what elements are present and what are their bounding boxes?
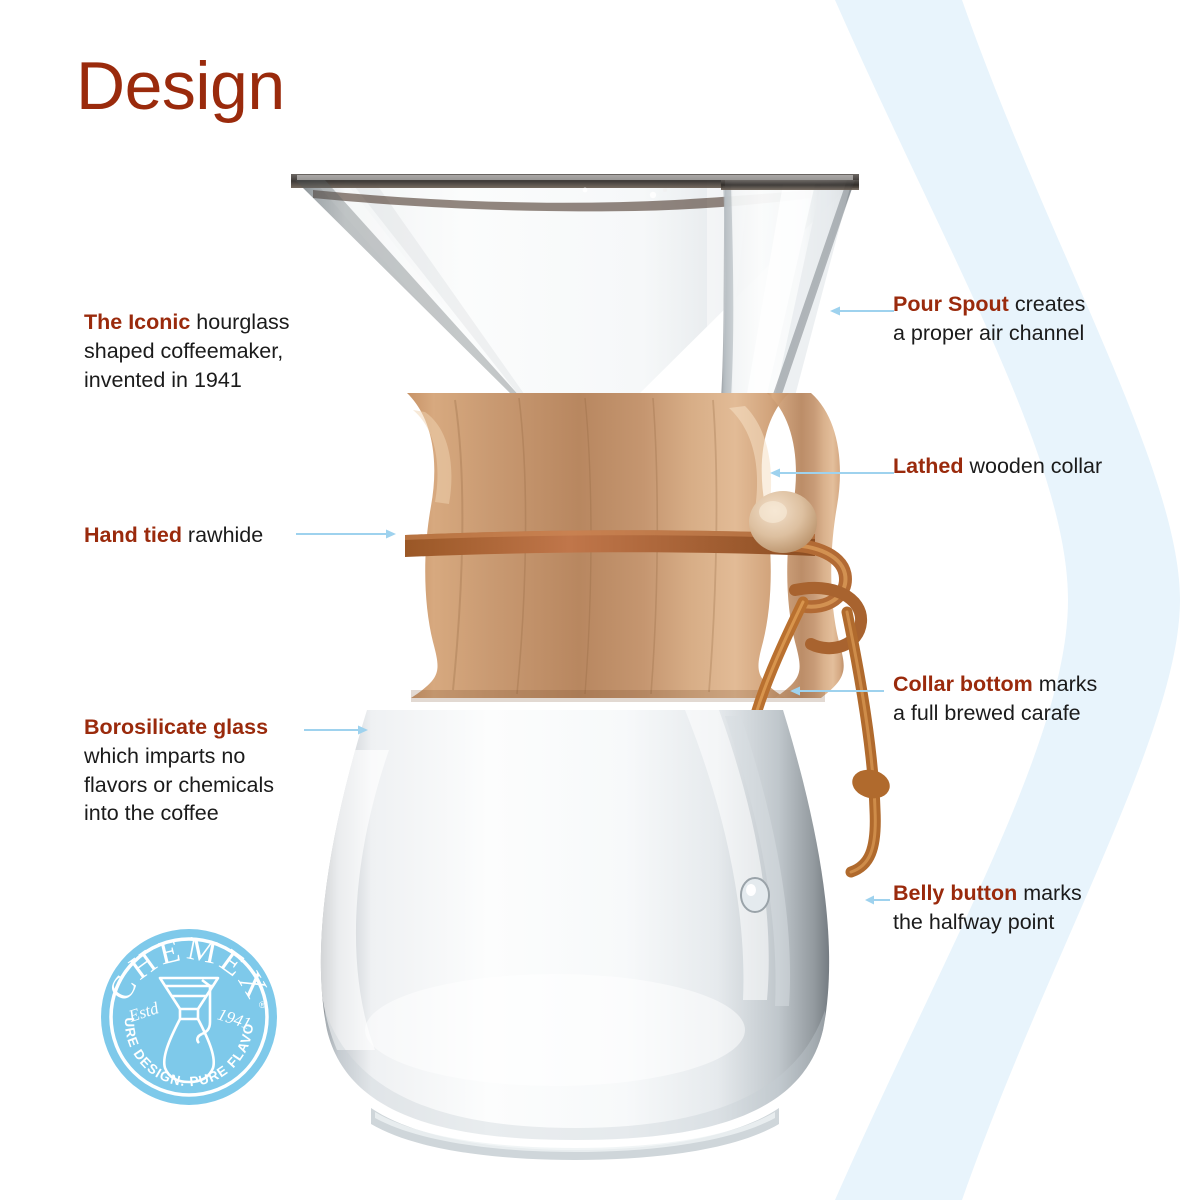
callout-collar-bottom-line2: a full brewed carafe — [893, 699, 1097, 728]
page-title: Design — [76, 52, 285, 120]
callout-belly-button-line1: marks — [1017, 881, 1082, 905]
callout-collar-bottom-line1: marks — [1033, 672, 1098, 696]
callout-belly-button-highlight: Belly button — [893, 881, 1017, 905]
callout-the-iconic: The Iconic hourglass shaped coffeemaker,… — [84, 308, 290, 394]
callout-lathed-line1: wooden collar — [963, 454, 1102, 478]
carafe-base — [371, 1108, 779, 1160]
callout-borosilicate-glass: Borosilicate glass which imparts no flav… — [84, 713, 274, 828]
callout-lathed-collar: Lathed wooden collar — [893, 452, 1102, 481]
arrow-belly-button — [862, 894, 890, 906]
callout-lathed-highlight: Lathed — [893, 454, 963, 478]
callout-borosilicate-line3: into the coffee — [84, 799, 274, 828]
pour-spout — [721, 180, 859, 400]
callout-hand-tied: Hand tied rawhide — [84, 521, 263, 550]
callout-borosilicate-line2: flavors or chemicals — [84, 771, 274, 800]
callout-collar-bottom-highlight: Collar bottom — [893, 672, 1033, 696]
callout-pour-spout-line2: a proper air channel — [893, 319, 1085, 348]
callout-pour-spout-line1: creates — [1009, 292, 1085, 316]
callout-the-iconic-line3: invented in 1941 — [84, 366, 290, 395]
callout-hand-tied-highlight: Hand tied — [84, 523, 182, 547]
callout-collar-bottom: Collar bottom marks a full brewed carafe — [893, 670, 1097, 728]
badge-registered-icon: ® — [259, 1000, 266, 1010]
glass-carafe-bulb — [319, 710, 830, 1160]
chemex-coffeemaker-illustration — [255, 150, 895, 1160]
callout-borosilicate-line1: which imparts no — [84, 742, 274, 771]
infographic-canvas: Design — [0, 0, 1200, 1200]
wooden-collar — [405, 390, 893, 750]
callout-the-iconic-highlight: The Iconic — [84, 310, 190, 334]
rawhide-tie — [405, 530, 893, 872]
arrow-borosilicate-glass — [304, 724, 368, 736]
callout-belly-button: Belly button marks the halfway point — [893, 879, 1082, 937]
glass-funnel-top — [291, 174, 859, 400]
callout-belly-button-line2: the halfway point — [893, 908, 1082, 937]
callout-the-iconic-line1: hourglass — [190, 310, 289, 334]
arrow-hand-tied — [296, 528, 396, 540]
callout-borosilicate-highlight: Borosilicate glass — [84, 713, 274, 742]
chemex-logo-badge: CHEMEX ® Estd 1941 PURE DESIGN. PURE FLA… — [98, 926, 280, 1108]
callout-pour-spout-highlight: Pour Spout — [893, 292, 1009, 316]
belly-button-nub — [741, 878, 769, 912]
callout-hand-tied-line1: rawhide — [182, 523, 263, 547]
callout-the-iconic-line2: shaped coffeemaker, — [84, 337, 290, 366]
callout-pour-spout: Pour Spout creates a proper air channel — [893, 290, 1085, 348]
arrow-pour-spout — [826, 305, 894, 317]
arrow-collar-bottom — [786, 685, 884, 697]
arrow-lathed-collar — [766, 467, 894, 479]
wooden-bead — [749, 491, 817, 553]
